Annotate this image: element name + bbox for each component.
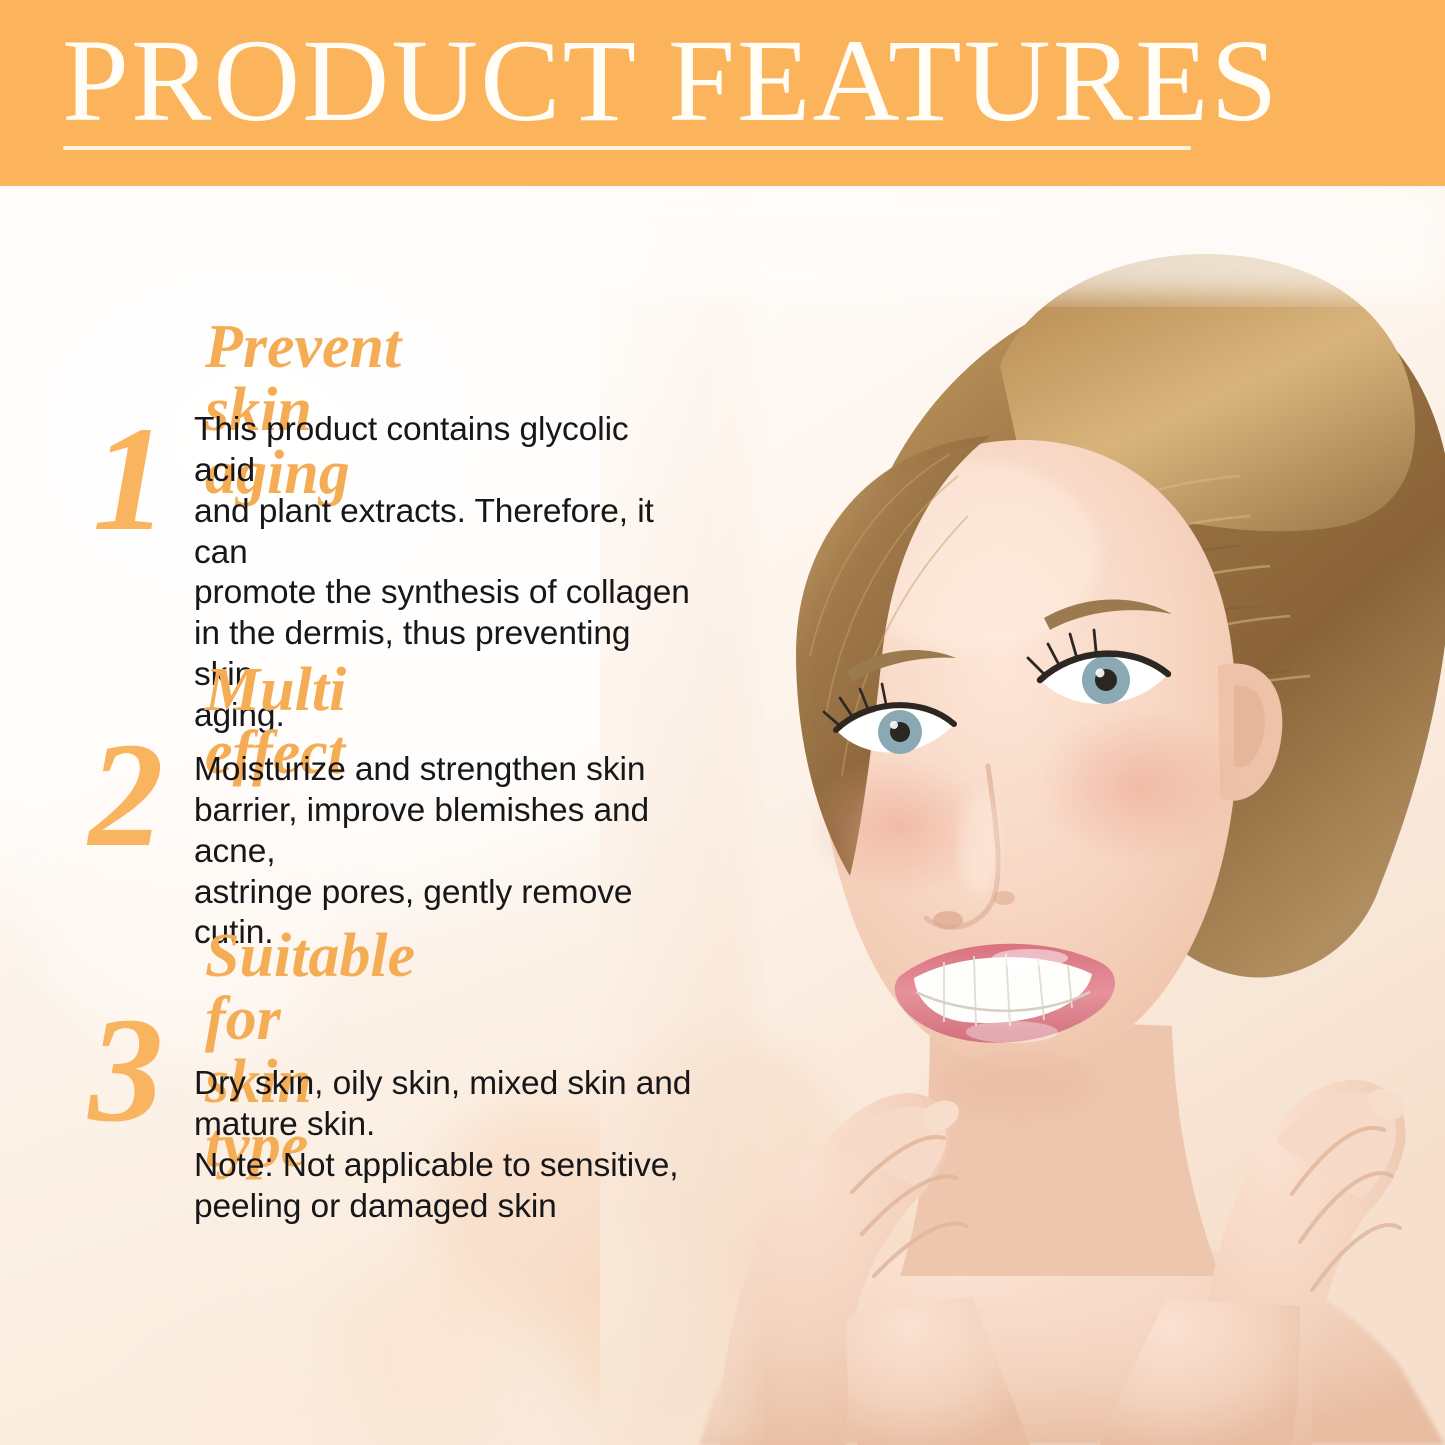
product-features-infographic: PRODUCT FEATURES 1 Prevent skin aging Th…: [0, 0, 1445, 1445]
page-title: PRODUCT FEATURES: [62, 22, 1280, 140]
feature-body-3: Dry skin, oily skin, mixed skin and matu…: [194, 1064, 714, 1227]
feature-number-1: 1: [60, 404, 200, 554]
feature-number-3: 3: [56, 995, 196, 1145]
model-photo: [600, 186, 1445, 1445]
header-banner: PRODUCT FEATURES: [0, 0, 1445, 186]
feature-number-2: 2: [56, 720, 196, 870]
title-underline: [63, 146, 1191, 150]
model-illustration: [600, 186, 1445, 1445]
